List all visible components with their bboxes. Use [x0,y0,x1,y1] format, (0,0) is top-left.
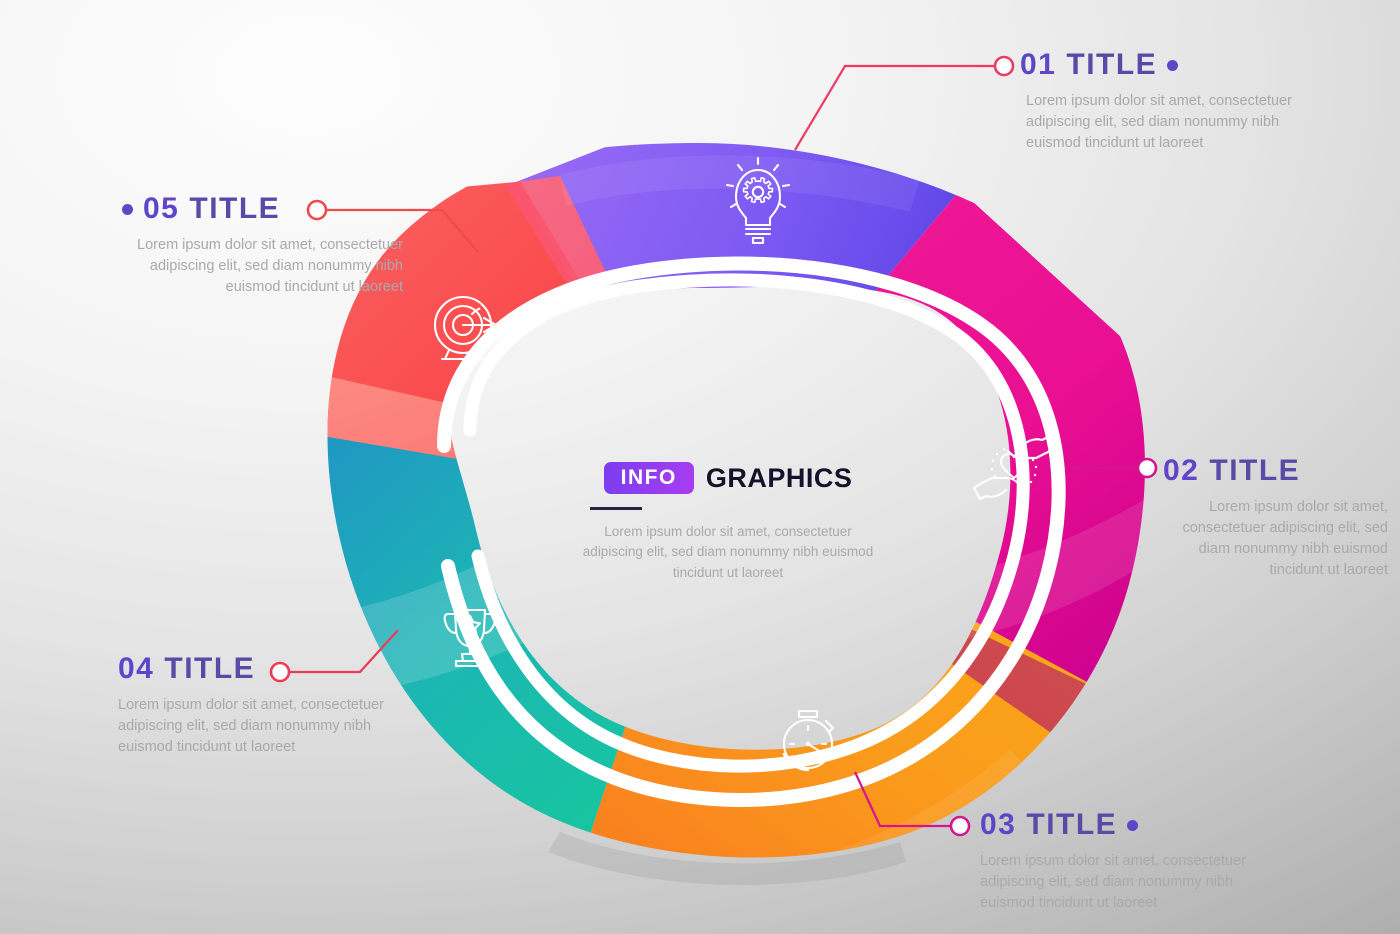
connector-endpoint-01 [995,57,1013,75]
bullet-dot-icon [122,204,133,215]
callout-05[interactable]: 05 TITLE Lorem ipsum dolor sit amet, con… [122,192,407,298]
callout-03-title: 03 TITLE [980,808,1280,842]
callout-04-number: 04 [118,652,154,686]
callout-01-title: 01 TITLE [1020,48,1320,82]
callout-02-title: 02 TITLE [1163,454,1388,488]
callout-04-label: TITLE [164,652,255,686]
stopwatch-icon [784,711,833,770]
callout-05-title: 05 TITLE [122,192,407,226]
callout-04-title: 04 TITLE [118,652,408,686]
callout-02[interactable]: 02 TITLE Lorem ipsum dolor sit amet, con… [1163,454,1388,581]
connector-01 [795,66,1000,150]
callout-04[interactable]: 04 TITLE Lorem ipsum dolor sit amet, con… [118,652,408,758]
callout-03-label: TITLE [1026,808,1117,842]
callout-01-number: 01 [1020,48,1056,82]
center-label-block: INFO GRAPHICS Lorem ipsum dolor sit amet… [578,462,878,583]
connector-endpoint-03 [951,817,969,835]
bullet-dot-icon [1167,60,1178,71]
infographic-canvas: 01 TITLE Lorem ipsum dolor sit amet, con… [0,0,1400,934]
callout-01[interactable]: 01 TITLE Lorem ipsum dolor sit amet, con… [1020,48,1320,154]
bullet-dot-icon [1127,820,1138,831]
graphics-heading: GRAPHICS [706,465,853,492]
callout-05-number: 05 [143,192,179,226]
callout-05-body: Lorem ipsum dolor sit amet, consectetuer… [122,235,407,298]
info-badge: INFO [604,462,694,494]
callout-02-number: 02 [1163,454,1199,488]
connector-endpoint-02 [1138,459,1156,477]
callout-02-label: TITLE [1209,454,1300,488]
callout-04-body: Lorem ipsum dolor sit amet, consectetuer… [118,695,408,758]
callout-01-body: Lorem ipsum dolor sit amet, consectetuer… [1020,91,1320,154]
callout-03-body: Lorem ipsum dolor sit amet, consectetuer… [980,851,1280,914]
callout-03[interactable]: 03 TITLE Lorem ipsum dolor sit amet, con… [980,808,1280,914]
callout-05-label: TITLE [189,192,280,226]
center-logo-row: INFO GRAPHICS [578,462,878,494]
center-body-text: Lorem ipsum dolor sit amet, consectetuer… [578,522,878,583]
callout-01-label: TITLE [1066,48,1157,82]
callout-03-number: 03 [980,808,1016,842]
center-divider [590,507,642,510]
callout-02-body: Lorem ipsum dolor sit amet, consectetuer… [1163,497,1388,581]
